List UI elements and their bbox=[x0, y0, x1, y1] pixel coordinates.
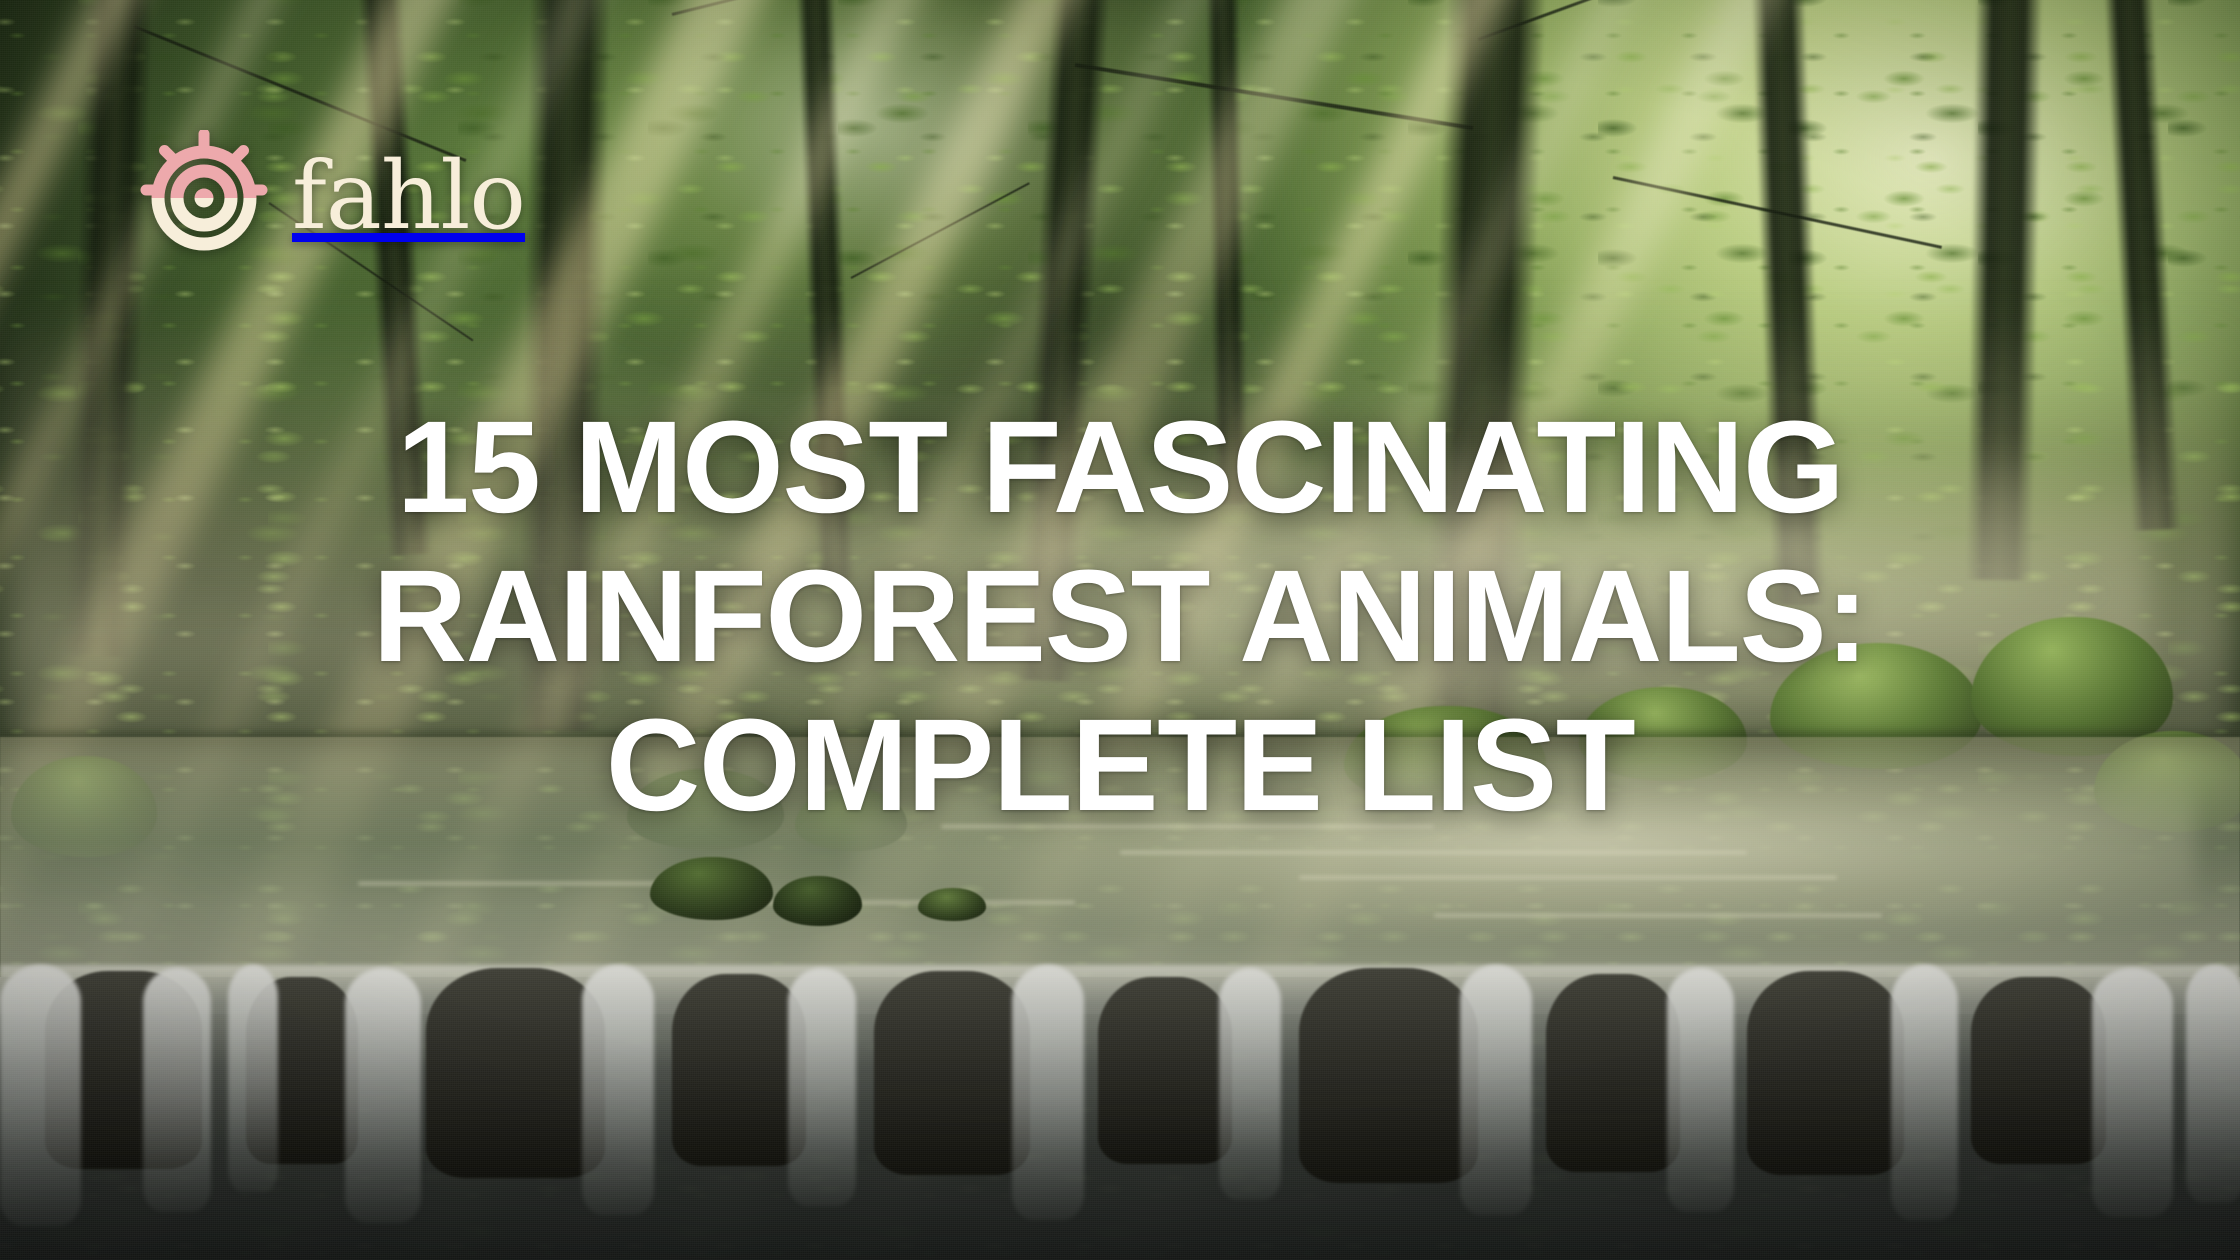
hero-title-line-2: RAINFOREST ANIMALS: bbox=[90, 542, 2150, 691]
sunrise-target-icon bbox=[140, 130, 268, 258]
hero-banner: fahlo 15 MOST FASCINATING RAINFOREST ANI… bbox=[0, 0, 2240, 1260]
hero-title: 15 MOST FASCINATING RAINFOREST ANIMALS: … bbox=[0, 393, 2240, 839]
hero-title-line-3: COMPLETE LIST bbox=[90, 691, 2150, 840]
hero-title-line-1: 15 MOST FASCINATING bbox=[90, 393, 2150, 542]
fahlo-logo[interactable]: fahlo bbox=[140, 130, 525, 258]
fahlo-wordmark: fahlo bbox=[292, 150, 525, 244]
